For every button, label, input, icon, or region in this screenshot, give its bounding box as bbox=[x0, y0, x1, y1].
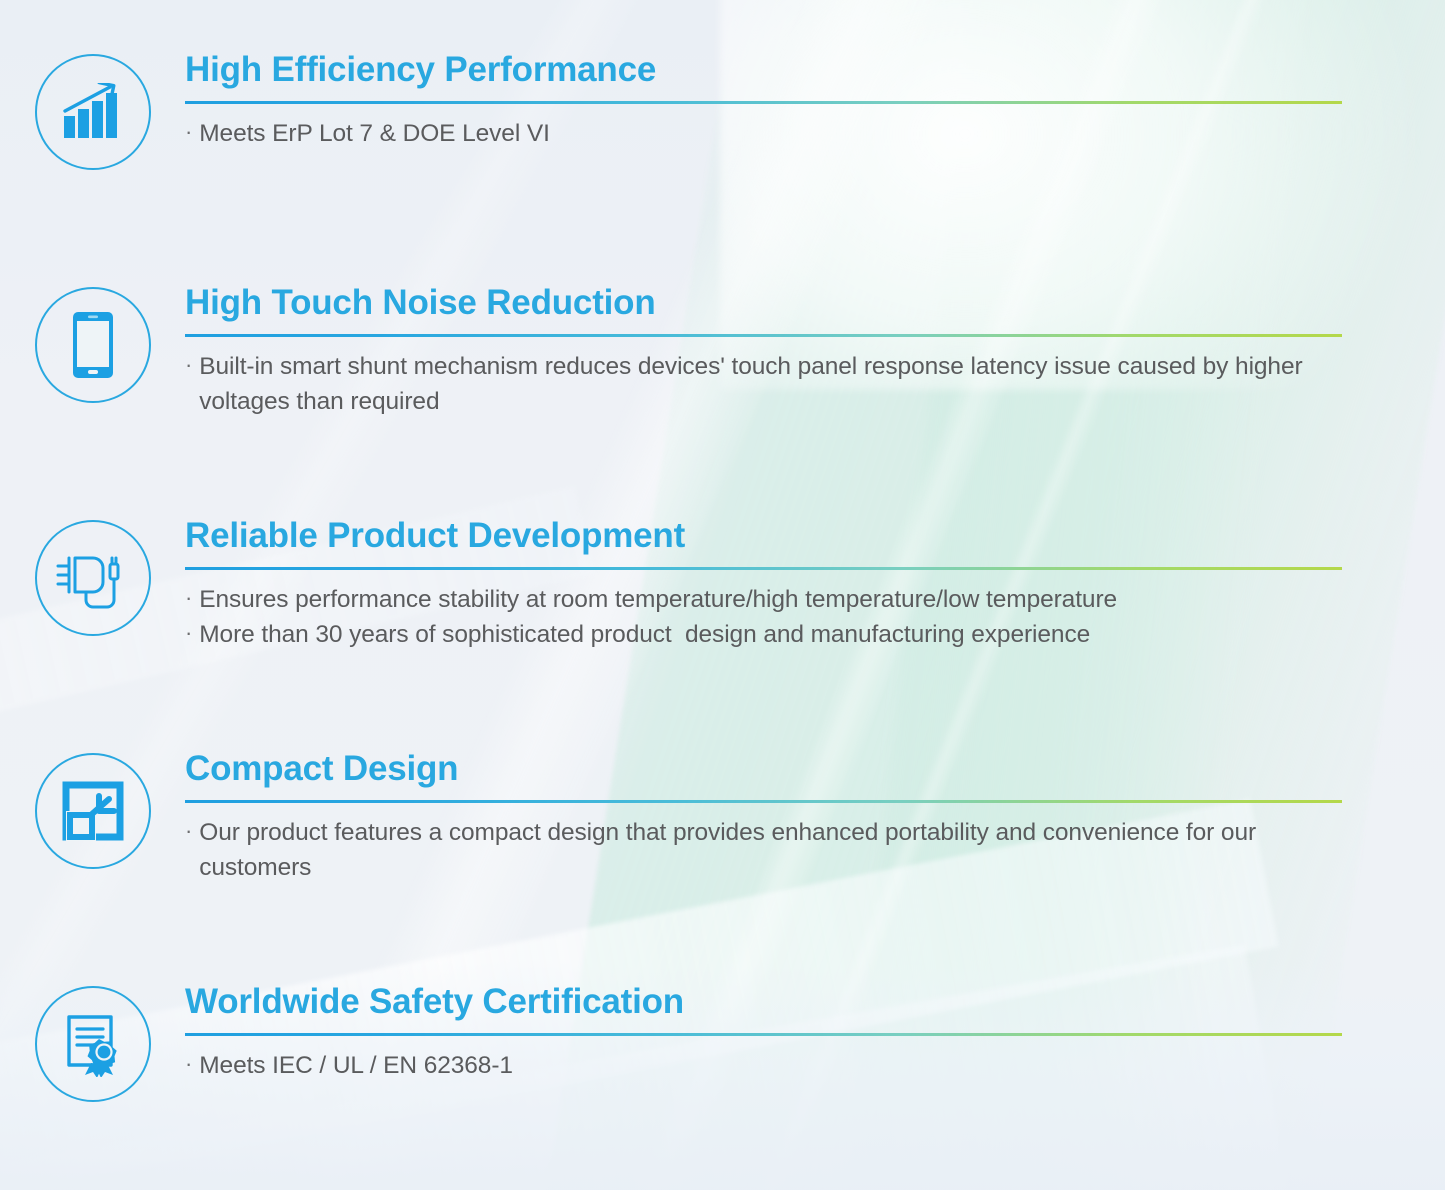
feature-divider bbox=[185, 101, 1342, 104]
feature-icon-container bbox=[0, 751, 185, 869]
feature-bullet-list: · Meets ErP Lot 7 & DOE Level VI bbox=[185, 117, 1350, 152]
feature-bullet-item: · Meets ErP Lot 7 & DOE Level VI bbox=[185, 117, 1350, 152]
feature-text-block: Worldwide Safety Certification · Meets I… bbox=[185, 984, 1430, 1084]
feature-title: Reliable Product Development bbox=[185, 518, 1350, 555]
feature-title: Compact Design bbox=[185, 751, 1350, 788]
feature-bullet-list: · Meets IEC / UL / EN 62368-1 bbox=[185, 1049, 1350, 1084]
feature-divider bbox=[185, 567, 1342, 570]
feature-bullet-list: · Ensures performance stability at room … bbox=[185, 583, 1350, 653]
power-adapter-icon bbox=[35, 520, 151, 636]
feature-icon-container bbox=[0, 518, 185, 636]
feature-item-compact-design: Compact Design · Our product features a … bbox=[0, 751, 1445, 885]
bullet-icon: · bbox=[185, 1053, 192, 1075]
feature-bullet-list: · Built-in smart shunt mechanism reduces… bbox=[185, 350, 1350, 420]
feature-bullet-text: Meets ErP Lot 7 & DOE Level VI bbox=[199, 117, 550, 152]
feature-divider bbox=[185, 334, 1342, 337]
feature-highlights-page: High Efficiency Performance · Meets ErP … bbox=[0, 0, 1445, 1190]
feature-bullet-text: More than 30 years of sophisticated prod… bbox=[199, 618, 1090, 653]
feature-title: High Touch Noise Reduction bbox=[185, 285, 1350, 322]
feature-icon-container bbox=[0, 285, 185, 403]
bullet-icon: · bbox=[185, 622, 192, 644]
feature-bullet-item: · Ensures performance stability at room … bbox=[185, 583, 1350, 618]
feature-item-worldwide-safety-certification: Worldwide Safety Certification · Meets I… bbox=[0, 984, 1445, 1102]
bullet-icon: · bbox=[185, 121, 192, 143]
feature-bullet-text: Our product features a compact design th… bbox=[199, 816, 1350, 886]
smartphone-icon bbox=[35, 287, 151, 403]
certificate-seal-icon bbox=[35, 986, 151, 1102]
feature-item-high-efficiency-performance: High Efficiency Performance · Meets ErP … bbox=[0, 52, 1445, 170]
bullet-icon: · bbox=[185, 820, 192, 842]
feature-divider bbox=[185, 800, 1342, 803]
feature-bullet-item: · Meets IEC / UL / EN 62368-1 bbox=[185, 1049, 1350, 1084]
feature-title: Worldwide Safety Certification bbox=[185, 984, 1350, 1021]
feature-bullet-list: · Our product features a compact design … bbox=[185, 816, 1350, 886]
feature-text-block: High Efficiency Performance · Meets ErP … bbox=[185, 52, 1430, 152]
feature-item-reliable-product-development: Reliable Product Development · Ensures p… bbox=[0, 518, 1445, 652]
feature-text-block: Compact Design · Our product features a … bbox=[185, 751, 1430, 885]
bar-chart-growth-icon bbox=[35, 54, 151, 170]
feature-text-block: High Touch Noise Reduction · Built-in sm… bbox=[185, 285, 1430, 419]
feature-bullet-text: Meets IEC / UL / EN 62368-1 bbox=[199, 1049, 513, 1084]
feature-icon-container bbox=[0, 984, 185, 1102]
feature-bullet-text: Built-in smart shunt mechanism reduces d… bbox=[199, 350, 1350, 420]
compact-resize-icon bbox=[35, 753, 151, 869]
bullet-icon: · bbox=[185, 587, 192, 609]
bullet-icon: · bbox=[185, 354, 192, 376]
feature-divider bbox=[185, 1033, 1342, 1036]
feature-item-high-touch-noise-reduction: High Touch Noise Reduction · Built-in sm… bbox=[0, 285, 1445, 419]
feature-text-block: Reliable Product Development · Ensures p… bbox=[185, 518, 1430, 652]
feature-bullet-item: · Built-in smart shunt mechanism reduces… bbox=[185, 350, 1350, 420]
feature-bullet-item: · Our product features a compact design … bbox=[185, 816, 1350, 886]
feature-bullet-item: · More than 30 years of sophisticated pr… bbox=[185, 618, 1350, 653]
feature-bullet-text: Ensures performance stability at room te… bbox=[199, 583, 1117, 618]
feature-title: High Efficiency Performance bbox=[185, 52, 1350, 89]
feature-icon-container bbox=[0, 52, 185, 170]
